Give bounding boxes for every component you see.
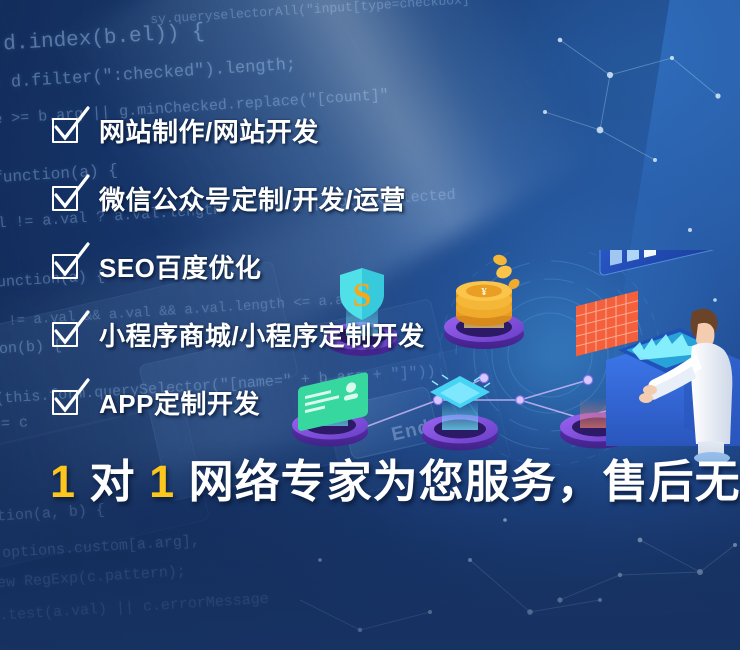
headline-number-two: 1 [149, 456, 175, 507]
list-item[interactable]: 网站制作/网站开发 [52, 96, 425, 164]
list-item-label: APP定制开发 [99, 384, 260, 421]
headline-mid-word: 对 [90, 456, 136, 507]
list-item-label: 微信公众号定制/开发/运营 [99, 180, 406, 217]
coin-stack: ¥ [456, 281, 512, 326]
list-item-label: 小程序商城/小程序定制开发 [99, 316, 425, 353]
list-item[interactable]: APP定制开发 [52, 368, 425, 436]
svg-text:¥: ¥ [481, 286, 487, 298]
promo-banner: End sy.queryselectorAll("input[type=chec… [0, 0, 740, 650]
checkbox-checked-icon [52, 184, 82, 212]
headline-tail-text: 网络专家为您服务，售后无忧！ [189, 456, 740, 507]
analyst-console-node [600, 250, 740, 464]
headline: 1 对 1 网络专家为您服务，售后无忧！ [50, 445, 740, 510]
feature-list: 网站制作/网站开发 微信公众号定制/开发/运营 SEO百度优化 小程序商城/小程… [52, 96, 425, 436]
list-item-label: 网站制作/网站开发 [99, 112, 319, 149]
list-item[interactable]: 小程序商城/小程序定制开发 [52, 300, 425, 368]
list-item-label: SEO百度优化 [99, 248, 261, 285]
checkbox-checked-icon [52, 252, 82, 280]
headline-number-one: 1 [50, 456, 76, 507]
list-item[interactable]: 微信公众号定制/开发/运营 [52, 164, 425, 232]
checkbox-checked-icon [52, 388, 82, 416]
checkbox-checked-icon [52, 320, 82, 348]
checkbox-checked-icon [52, 116, 82, 144]
list-item[interactable]: SEO百度优化 [52, 232, 425, 300]
